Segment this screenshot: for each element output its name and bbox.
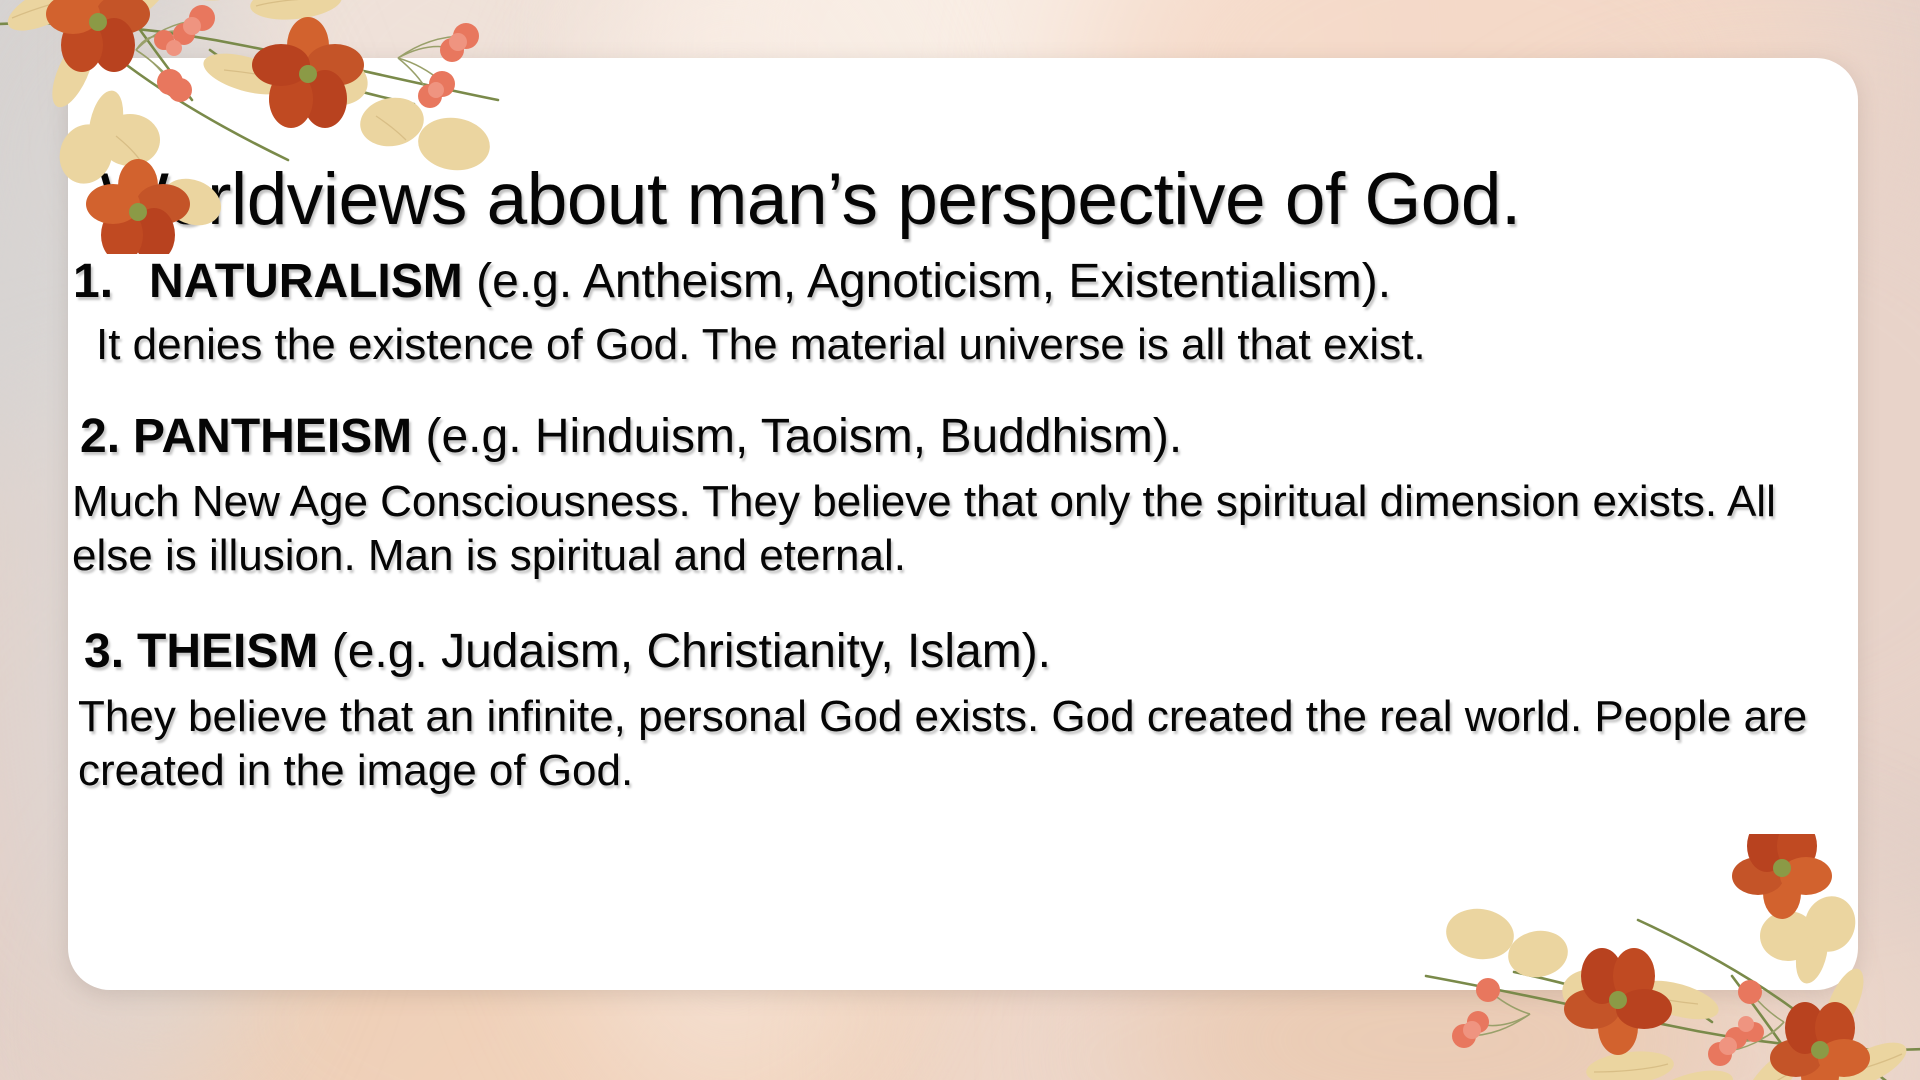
slide-title: Worldviews about man’s perspective of Go… — [100, 163, 1840, 237]
item-number: 2. — [80, 410, 120, 463]
slide-content: Worldviews about man’s perspective of Go… — [68, 58, 1858, 990]
worldview-description: They believe that an infinite, personal … — [68, 690, 1858, 797]
presentation-slide: Worldviews about man’s perspective of Go… — [0, 0, 1920, 1080]
worldview-examples: (e.g. Antheism, Agnoticism, Existentiali… — [476, 255, 1391, 308]
worldview-term: NATURALISM — [149, 255, 463, 308]
list-item: 3.THEISM (e.g. Judaism, Christianity, Is… — [68, 624, 1858, 797]
list-item: 1.NATURALISM (e.g. Antheism, Agnoticism,… — [68, 254, 1858, 371]
worldview-heading: 3.THEISM (e.g. Judaism, Christianity, Is… — [68, 624, 1858, 680]
worldview-description: It denies the existence of God. The mate… — [68, 318, 1858, 372]
worldview-term: PANTHEISM — [133, 410, 412, 463]
worldview-term: THEISM — [137, 625, 318, 678]
worldview-description: Much New Age Consciousness. They believe… — [68, 475, 1858, 582]
worldview-heading: 2.PANTHEISM (e.g. Hinduism, Taoism, Budd… — [68, 409, 1858, 465]
item-number: 3. — [84, 625, 124, 678]
worldview-list: 1.NATURALISM (e.g. Antheism, Agnoticism,… — [68, 254, 1858, 799]
worldview-examples: (e.g. Judaism, Christianity, Islam). — [332, 625, 1051, 678]
item-number: 1. — [73, 255, 113, 308]
worldview-heading: 1.NATURALISM (e.g. Antheism, Agnoticism,… — [68, 254, 1858, 310]
worldview-examples: (e.g. Hinduism, Taoism, Buddhism). — [426, 410, 1183, 463]
list-item: 2.PANTHEISM (e.g. Hinduism, Taoism, Budd… — [68, 409, 1858, 582]
